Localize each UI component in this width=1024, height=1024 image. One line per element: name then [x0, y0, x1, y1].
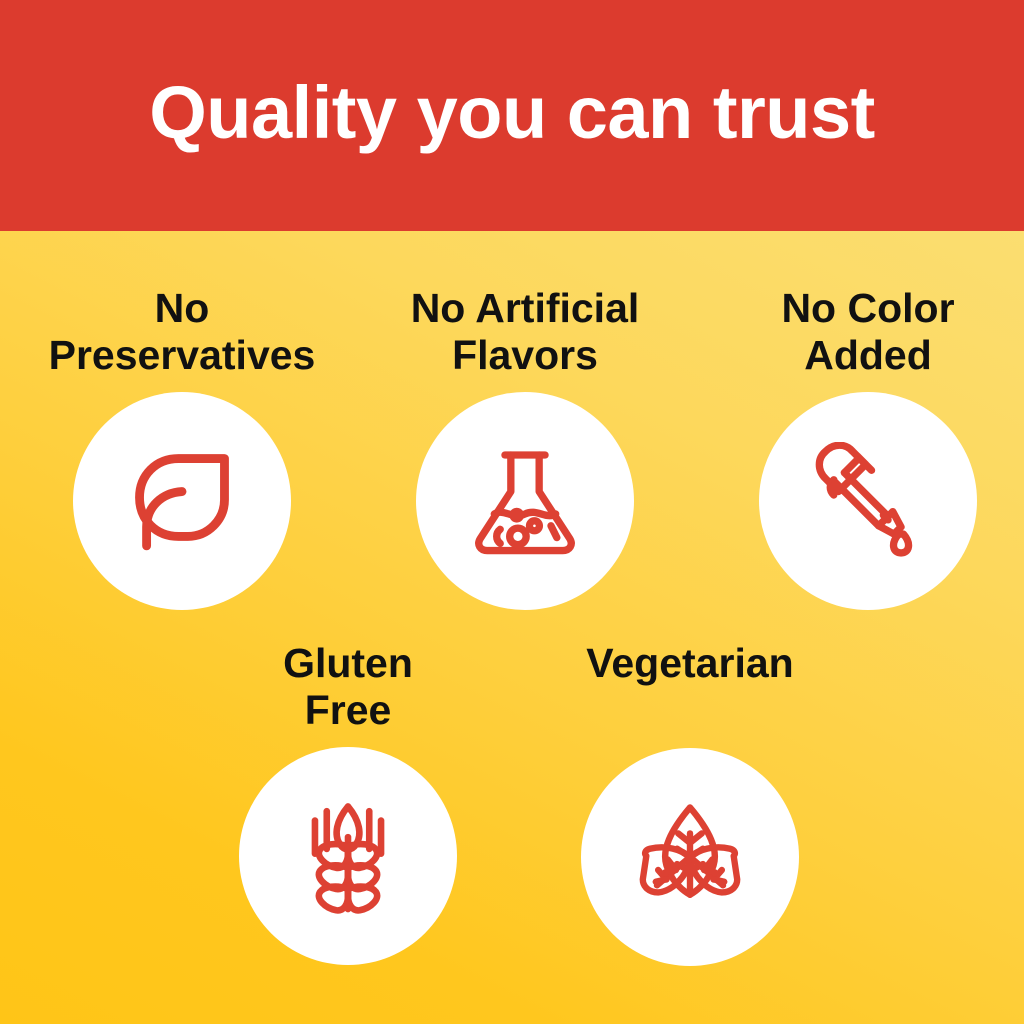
- page-title: Quality you can trust: [149, 76, 875, 150]
- dropper-icon: [809, 442, 927, 560]
- header-banner: Quality you can trust: [0, 0, 1024, 231]
- badge-vegetarian: Vegetarian: [525, 640, 855, 966]
- wheat-icon: [289, 797, 407, 915]
- badge-gluten-free: Gluten Free: [183, 640, 513, 965]
- badge-icon-circle: [581, 748, 799, 966]
- badge-no-preservatives: No Preservatives: [17, 285, 347, 610]
- badge-icon-circle: [73, 392, 291, 610]
- badge-no-artificial-flavors: No Artificial Flavors: [360, 285, 690, 610]
- badge-icon-circle: [416, 392, 634, 610]
- badge-label: No Artificial Flavors: [411, 285, 640, 378]
- badge-icon-circle: [759, 392, 977, 610]
- badge-label: Gluten Free: [283, 640, 413, 733]
- badge-no-color-added: No Color Added: [703, 285, 1024, 610]
- quality-badges-poster: Quality you can trust No Preservatives N…: [0, 0, 1024, 1024]
- badge-label: No Color Added: [781, 285, 954, 378]
- flask-icon: [466, 442, 584, 560]
- badge-icon-circle: [239, 747, 457, 965]
- three-leaves-icon: [631, 798, 749, 916]
- badge-label: No Preservatives: [49, 285, 316, 378]
- badge-label: Vegetarian: [586, 640, 793, 687]
- leaf-icon: [123, 442, 241, 560]
